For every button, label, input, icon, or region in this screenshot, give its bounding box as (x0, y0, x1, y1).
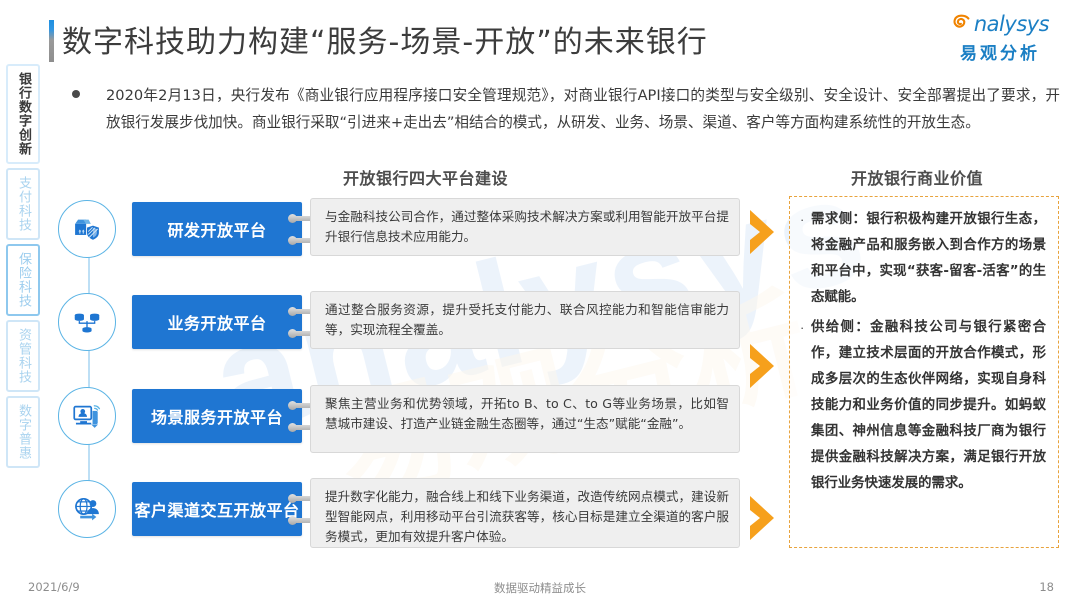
platform-description-box: 聚焦主营业务和优势领域，开拓to B、to C、to G等业务场景，比如智慧城市… (310, 385, 740, 453)
sidebar-item-asset-management-tech[interactable]: 资管科技 (6, 320, 40, 392)
slide-footer: 2021/6/9 数据驱动精益成长 18 (0, 574, 1080, 608)
analysys-logo: nalysys 易观分析 (940, 10, 1060, 62)
monitor-person-icon (58, 387, 116, 445)
value-bullet-icon: · (800, 207, 811, 311)
logo-chinese-name: 易观分析 (940, 39, 1060, 64)
right-column-header: 开放银行商业价值 (851, 165, 983, 189)
chevron-right-icon (746, 492, 784, 544)
timeline-connector-line (88, 230, 90, 515)
bullet-point-icon (72, 90, 80, 98)
analysys-swirl-icon (951, 13, 973, 35)
lead-paragraph-text: 2020年2月13日，央行发布《商业银行应用程序接口安全管理规范》，对商业银行A… (106, 82, 1060, 136)
platform-label: 客户渠道交互开放平台 (134, 497, 299, 521)
database-stack-icon (58, 293, 116, 351)
platform-label-box[interactable]: 客户渠道交互开放平台 (132, 482, 302, 536)
chevron-right-icon (746, 340, 784, 392)
sidebar-item-label: 银行数字创新 (15, 72, 31, 156)
sidebar-item-bank-digital-innovation[interactable]: 银行数字创新 (6, 64, 40, 164)
platform-description: 聚焦主营业务和优势领域，开拓to B、to C、to G等业务场景，比如智慧城市… (325, 394, 729, 434)
value-list-item: · 需求侧：银行积极构建开放银行生态，将金融产品和服务嵌入到合作方的场景和平台中… (800, 207, 1046, 311)
globe-person-icon (58, 480, 116, 538)
platform-label: 业务开放平台 (167, 310, 266, 334)
platform-label-box[interactable]: 研发开放平台 (132, 202, 302, 256)
platform-label-box[interactable]: 场景服务开放平台 (132, 389, 302, 443)
sidebar-item-label: 数字普惠 (15, 404, 31, 460)
platform-description: 提升数字化能力，融合线上和线下业务渠道，改造传统网点模式，建设新型智能网点，利用… (325, 487, 729, 547)
sidebar-item-label: 支付科技 (15, 176, 31, 232)
lead-paragraph: 2020年2月13日，央行发布《商业银行应用程序接口安全管理规范》，对商业银行A… (72, 82, 1060, 136)
chevron-right-icon (746, 206, 784, 258)
platform-description: 与金融科技公司合作，通过整体采购技术解决方案或利用智能开放平台提升银行信息技术应… (325, 207, 729, 247)
value-bullet-icon: · (800, 315, 811, 497)
value-item-text: 需求侧：银行积极构建开放银行生态，将金融产品和服务嵌入到合作方的场景和平台中，实… (811, 207, 1046, 311)
footer-tagline: 数据驱动精益成长 (0, 580, 1080, 596)
sidebar-item-payment-tech[interactable]: 支付科技 (6, 168, 40, 240)
left-column-header: 开放银行四大平台建设 (343, 165, 508, 189)
sidebar-item-insurance-tech[interactable]: 保险科技 (6, 244, 40, 316)
platform-description: 通过整合服务资源，提升受托支付能力、联合风控能力和智能信审能力等，实现流程全覆盖… (325, 300, 729, 340)
slide-header: 数字科技助力构建“服务-场景-开放”的未来银行 (0, 0, 1080, 72)
logo-wordmark: nalysys (974, 13, 1049, 35)
footer-page-number: 18 (1039, 580, 1054, 594)
platform-label-box[interactable]: 业务开放平台 (132, 295, 302, 349)
value-item-text: 供给侧：金融科技公司与银行紧密合作，建立技术层面的开放合作模式，形成多层次的生态… (811, 315, 1046, 497)
value-list-item: · 供给侧：金融科技公司与银行紧密合作，建立技术层面的开放合作模式，形成多层次的… (800, 315, 1046, 497)
sidebar-item-label: 资管科技 (15, 328, 31, 384)
sidebar-item-digital-inclusive-finance[interactable]: 数字普惠 (6, 396, 40, 468)
platform-description-box: 通过整合服务资源，提升受托支付能力、联合风控能力和智能信审能力等，实现流程全覆盖… (310, 291, 740, 349)
platform-description-box: 与金融科技公司合作，通过整体采购技术解决方案或利用智能开放平台提升银行信息技术应… (310, 198, 740, 256)
sidebar: 银行数字创新 支付科技 保险科技 资管科技 数字普惠 (6, 64, 40, 472)
title-accent-bar (49, 20, 54, 62)
sidebar-item-label: 保险科技 (15, 252, 31, 308)
business-value-panel: · 需求侧：银行积极构建开放银行生态，将金融产品和服务嵌入到合作方的场景和平台中… (789, 196, 1059, 548)
page-title: 数字科技助力构建“服务-场景-开放”的未来银行 (62, 17, 708, 61)
platform-label: 研发开放平台 (167, 217, 266, 241)
platform-label: 场景服务开放平台 (151, 404, 283, 428)
platform-description-box: 提升数字化能力，融合线上和线下业务渠道，改造传统网点模式，建设新型智能网点，利用… (310, 478, 740, 548)
package-shield-icon (58, 200, 116, 258)
